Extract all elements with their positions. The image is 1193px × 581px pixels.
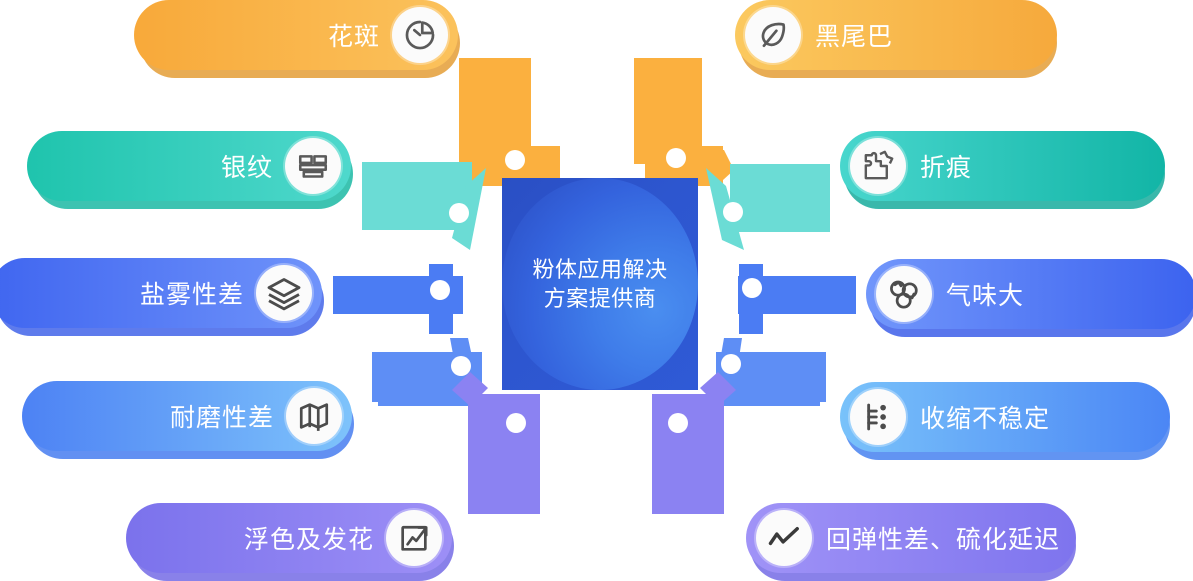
pill-label: 回弹性差、硫化延迟: [826, 520, 1060, 556]
pie-chart-icon: [392, 7, 448, 63]
connector-left-1: [458, 58, 560, 190]
pill-label: 花斑: [328, 17, 380, 53]
recycle-icon: [876, 266, 932, 322]
connector-left-2: [362, 162, 486, 250]
pill-item-浮色及发花[interactable]: 浮色及发花: [126, 503, 452, 573]
pill-label: 黑尾巴: [815, 17, 893, 53]
pill-label: 收缩不稳定: [920, 399, 1050, 435]
pill-label: 银纹: [221, 148, 273, 184]
pill-item-气味大[interactable]: 气味大: [866, 259, 1193, 329]
pill-item-折痕[interactable]: 折痕: [840, 131, 1165, 201]
connector-right-5: [652, 372, 736, 514]
pill-label: 气味大: [946, 276, 1024, 312]
infographic-canvas: 粉体应用解决 方案提供商 花斑银纹盐雾性差耐磨性差浮色及发花黑尾巴折痕气味大收缩…: [0, 0, 1193, 577]
pill-label: 浮色及发花: [244, 520, 374, 556]
connector-left-3: [333, 264, 463, 334]
pill-item-回弹性差、硫化延迟[interactable]: 回弹性差、硫化延迟: [746, 503, 1076, 573]
connector-left-5: [452, 372, 540, 514]
connector-right-4: [716, 338, 826, 406]
leaf-icon: [745, 7, 801, 63]
brick-wall-icon: [285, 138, 341, 194]
pill-item-耐磨性差[interactable]: 耐磨性差: [22, 381, 352, 451]
pill-item-花斑[interactable]: 花斑: [134, 0, 458, 70]
layers-icon: [256, 265, 312, 321]
map-icon: [286, 388, 342, 444]
line-chart-icon: [756, 510, 812, 566]
pill-item-银纹[interactable]: 银纹: [27, 131, 351, 201]
pill-label: 耐磨性差: [170, 398, 274, 434]
pill-item-黑尾巴[interactable]: 黑尾巴: [735, 0, 1057, 70]
connector-right-3: [738, 264, 856, 334]
trending-up-icon: [386, 510, 442, 566]
pill-item-收缩不稳定[interactable]: 收缩不稳定: [840, 382, 1170, 452]
center-hub: 粉体应用解决 方案提供商: [502, 178, 698, 390]
puzzle-icon: [850, 138, 906, 194]
pill-label: 盐雾性差: [140, 275, 244, 311]
pill-label: 折痕: [920, 148, 972, 184]
pill-item-盐雾性差[interactable]: 盐雾性差: [0, 258, 322, 328]
center-hub-label: 粉体应用解决 方案提供商: [502, 178, 698, 390]
sitemap-icon: [850, 389, 906, 445]
connector-right-1: [634, 58, 734, 190]
